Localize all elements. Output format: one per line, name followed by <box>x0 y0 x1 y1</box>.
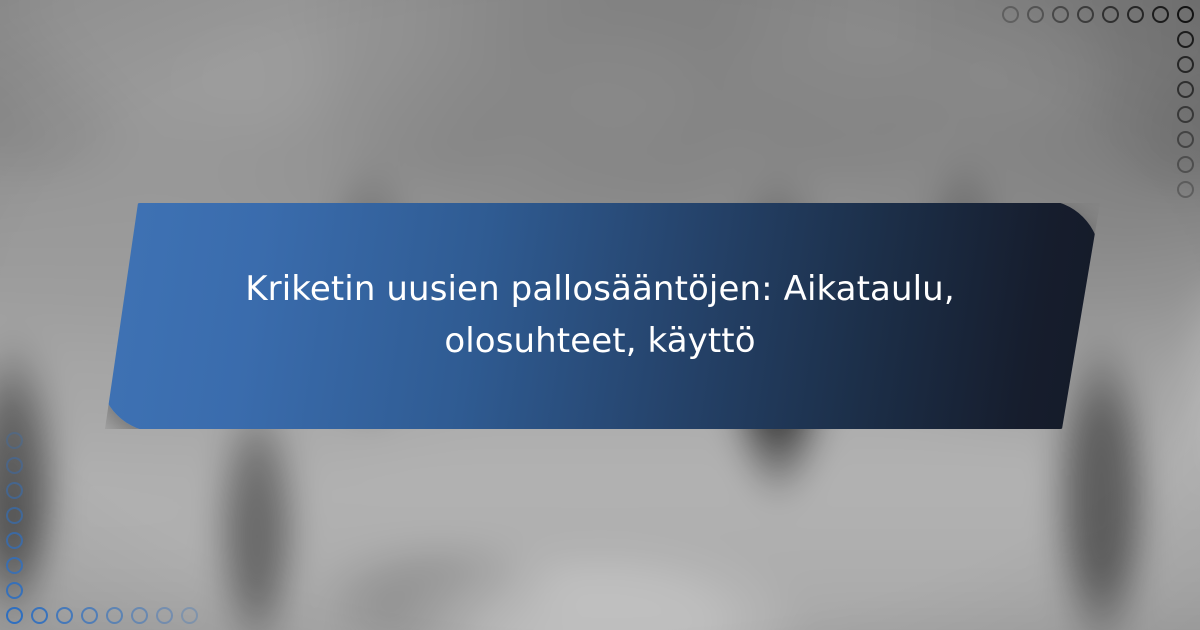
page-title-line-2: olosuhteet, käyttö <box>444 321 755 361</box>
screenshot-canvas: Kriketin uusien pallosääntöjen: Aikataul… <box>0 0 1200 630</box>
page-title: Kriketin uusien pallosääntöjen: Aikataul… <box>220 264 980 367</box>
title-card: Kriketin uusien pallosääntöjen: Aikataul… <box>100 200 1100 432</box>
page-title-line-1: Kriketin uusien pallosääntöjen: Aikataul… <box>245 269 954 309</box>
